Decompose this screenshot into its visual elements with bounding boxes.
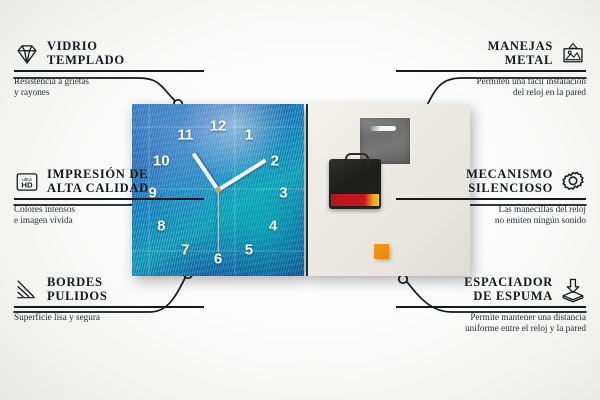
- feature-desc-line1: Permiten una fácil instalación: [396, 76, 586, 87]
- feature-desc-line1: Colores intensos: [14, 204, 204, 215]
- foam-spacer-icon: [560, 277, 586, 303]
- foam-spacer: [374, 244, 389, 259]
- feature-title-line1: BORDES: [47, 276, 107, 290]
- clock-numeral-10: 10: [153, 152, 170, 169]
- feature-desc-line2: del reloj en la pared: [396, 87, 586, 98]
- feature-desc-line1: Superficie lisa y segura: [14, 312, 204, 323]
- feature-desc-line2: e imagen vívida: [14, 215, 204, 226]
- ultra-hd-icon: ultra HD: [14, 169, 40, 195]
- clock-second-hand: [217, 190, 218, 252]
- clock-numeral-1: 1: [245, 126, 253, 143]
- feature-title-line2: PULIDOS: [47, 290, 107, 304]
- bracket-keyhole-slot: [370, 126, 396, 131]
- clock-numeral-5: 5: [245, 242, 253, 259]
- clock-numeral-11: 11: [177, 126, 193, 143]
- infographic-canvas: 12 1 2 3 4 5 6 7 8 9 10 11: [0, 0, 600, 400]
- clock-numeral-2: 2: [271, 152, 279, 169]
- gear-icon: [560, 169, 586, 195]
- feature-bordes-pulidos[interactable]: BORDES PULIDOS Superficie lisa y segura: [14, 276, 204, 323]
- clock-numeral-6: 6: [214, 250, 222, 267]
- feature-title-line1: VIDRIO: [47, 40, 125, 54]
- clock-center-hub: [215, 187, 221, 193]
- mechanism-hanger-loop: [345, 153, 369, 165]
- diamond-icon: [14, 41, 40, 67]
- clock-numeral-12: 12: [210, 118, 227, 135]
- feature-title-line2: METAL: [488, 54, 553, 68]
- feature-desc-line2: no emiten ningún sonido: [396, 215, 586, 226]
- clock-minute-hand: [217, 159, 266, 192]
- feature-espaciador-de-espuma[interactable]: ESPACIADOR DE ESPUMA Permite mantener un…: [396, 276, 586, 334]
- feature-title-line1: MECANISMO: [466, 168, 553, 182]
- feature-title-line1: ESPACIADOR: [464, 276, 553, 290]
- clock-numeral-3: 3: [279, 185, 287, 202]
- picture-hanger-icon: [560, 41, 586, 67]
- feature-title-line2: DE ESPUMA: [464, 290, 553, 304]
- feature-impresion-alta-calidad[interactable]: ultra HD IMPRESIÓN DE ALTA CALIDAD Color…: [14, 168, 204, 226]
- feature-title-line1: MANEJAS: [488, 40, 553, 54]
- feature-vidrio-templado[interactable]: VIDRIO TEMPLADO Resistencia a grietas y …: [14, 40, 204, 98]
- polished-edges-icon: [14, 277, 40, 303]
- feature-manejas-metal[interactable]: MANEJAS METAL Permiten una fácil instala…: [396, 40, 586, 98]
- feature-desc-line1: Las manecillas del reloj: [396, 204, 586, 215]
- feature-title-line2: SILENCIOSO: [466, 182, 553, 196]
- feature-desc-line1: Resistencia a grietas: [14, 76, 204, 87]
- feature-title-line1: IMPRESIÓN DE: [47, 168, 149, 182]
- svg-text:HD: HD: [21, 180, 33, 189]
- feature-title-line2: TEMPLADO: [47, 54, 125, 68]
- clock-mechanism: [329, 159, 381, 209]
- mechanism-label-strip: [331, 194, 379, 206]
- clock-numeral-4: 4: [269, 218, 277, 235]
- clock-numeral-7: 7: [181, 242, 189, 259]
- feature-desc-line2: uniforme entre el reloj y la pared: [396, 323, 586, 334]
- feature-mecanismo-silencioso[interactable]: MECANISMO SILENCIOSO Las manecillas del …: [396, 168, 586, 226]
- feature-desc-line2: y rayones: [14, 87, 204, 98]
- feature-title-line2: ALTA CALIDAD: [47, 182, 149, 196]
- feature-desc-line1: Permite mantener una distancia: [396, 312, 586, 323]
